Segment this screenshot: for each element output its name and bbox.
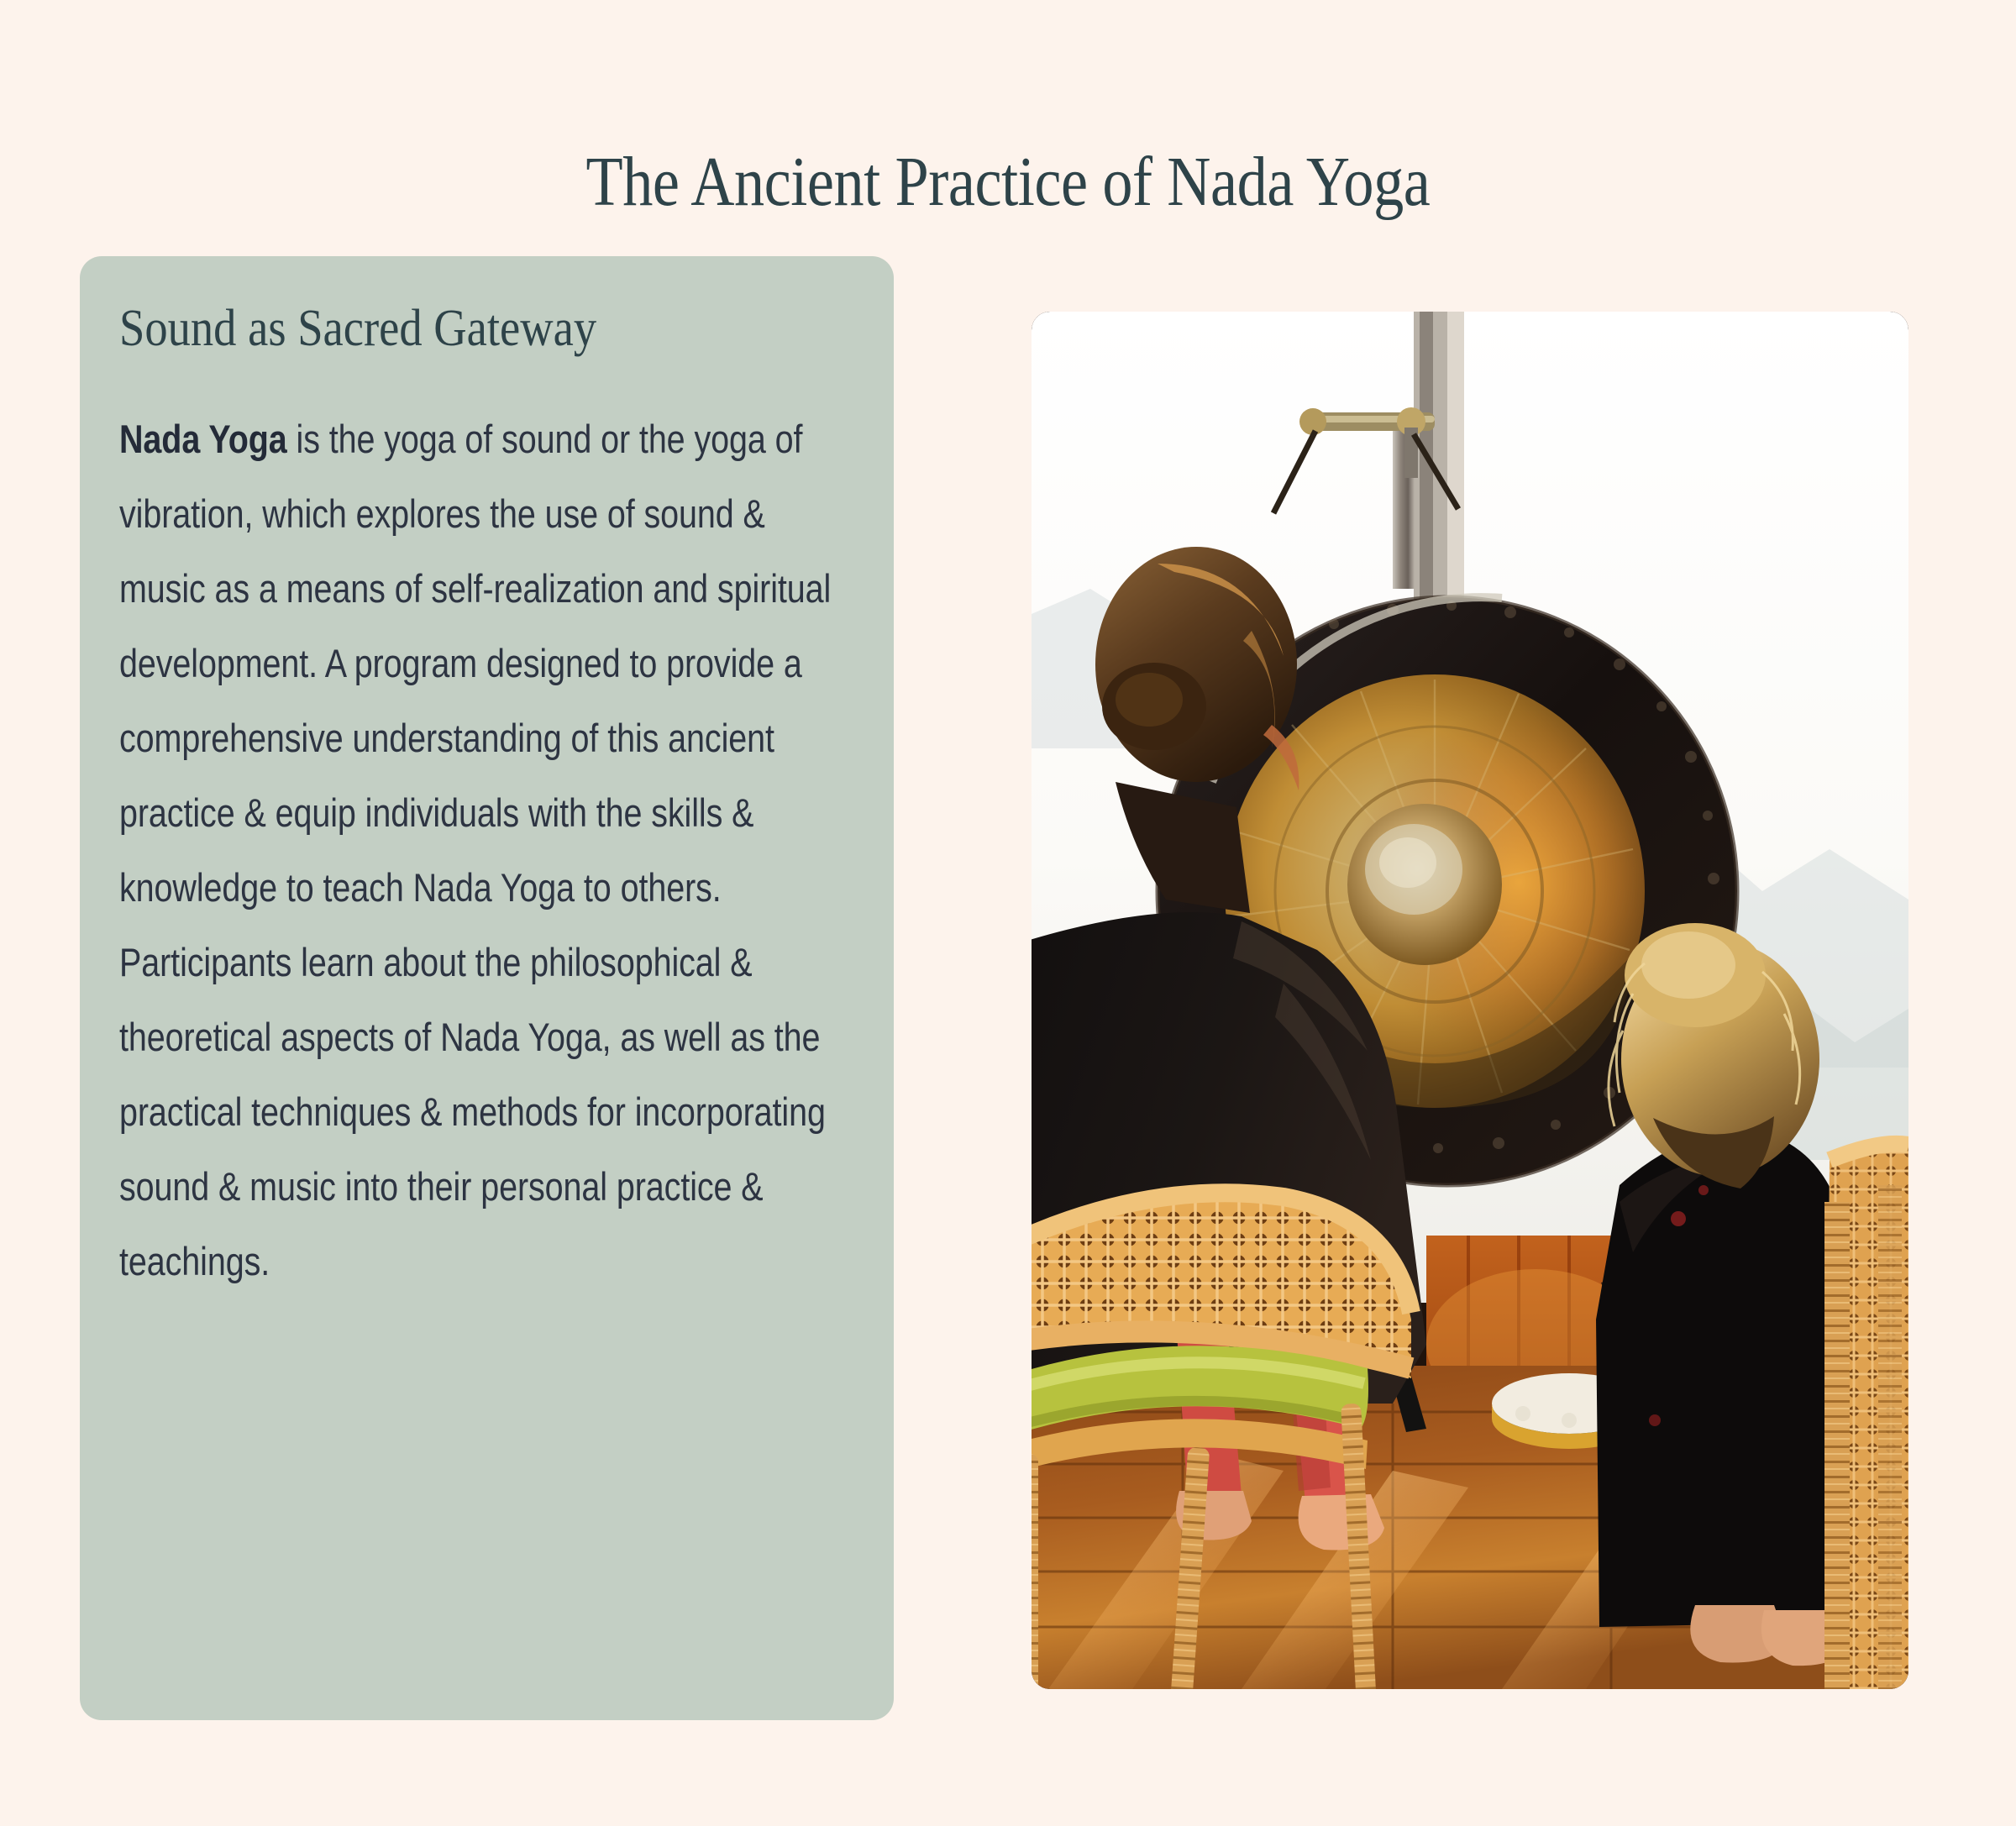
info-card: Sound as Sacred Gateway Nada Yoga is the… [80, 256, 894, 1720]
page-title: The Ancient Practice of Nada Yoga [141, 144, 1875, 221]
card-body-text: Nada Yoga is the yoga of sound or the yo… [119, 401, 854, 1299]
card-body-lead: Nada Yoga [119, 417, 287, 461]
page-root: The Ancient Practice of Nada Yoga Sound … [0, 0, 2016, 1826]
card-body-rest: is the yoga of sound or the yoga of vibr… [119, 417, 831, 1283]
photo-illustration [1032, 312, 1908, 1689]
wicker-chair-right [1824, 1144, 1908, 1689]
gong-session-photo [1032, 312, 1908, 1689]
card-heading: Sound as Sacred Gateway [119, 300, 766, 358]
